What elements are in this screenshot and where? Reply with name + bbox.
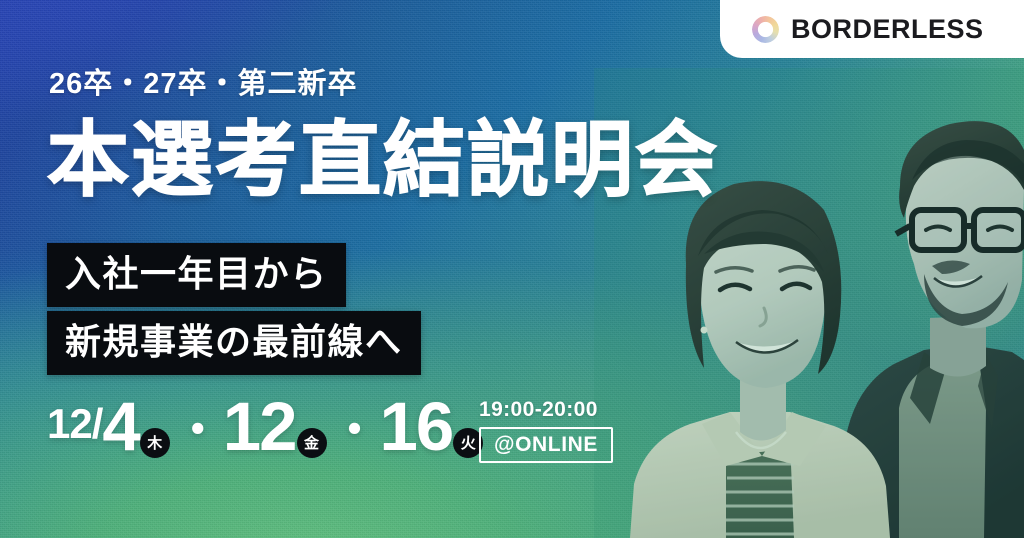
event-info-block: 19:00-20:00 @ONLINE [479,399,613,463]
target-audience-eyebrow: 26卒・27卒・第二新卒 [49,70,358,99]
event-day-1: 4 [102,392,138,461]
event-banner: BORDERLESS 26卒・27卒・第二新卒 本選考直結説明会 入社一年目から… [0,0,1024,538]
borderless-ring-icon [752,16,779,43]
date-separator-1: ・ [175,407,221,453]
event-date-row: 12/ 4 木 ・ 12 金 ・ 16 火 [47,392,486,461]
logo-text: BORDERLESS [791,16,984,43]
event-dow-2: 金 [297,428,327,458]
borderless-logo-panel[interactable]: BORDERLESS [720,0,1024,58]
event-month: 12/ [47,403,102,445]
event-venue-badge: @ONLINE [479,427,613,463]
event-day-3: 16 [380,392,453,461]
event-time: 19:00-20:00 [479,399,598,420]
event-dow-1: 木 [140,428,170,458]
event-day-2: 12 [223,392,296,461]
highlight-tag-1: 入社一年目から [47,243,346,307]
date-separator-2: ・ [332,407,378,453]
highlight-tag-2: 新規事業の最前線へ [47,311,421,375]
page-title: 本選考直結説明会 [47,118,719,205]
